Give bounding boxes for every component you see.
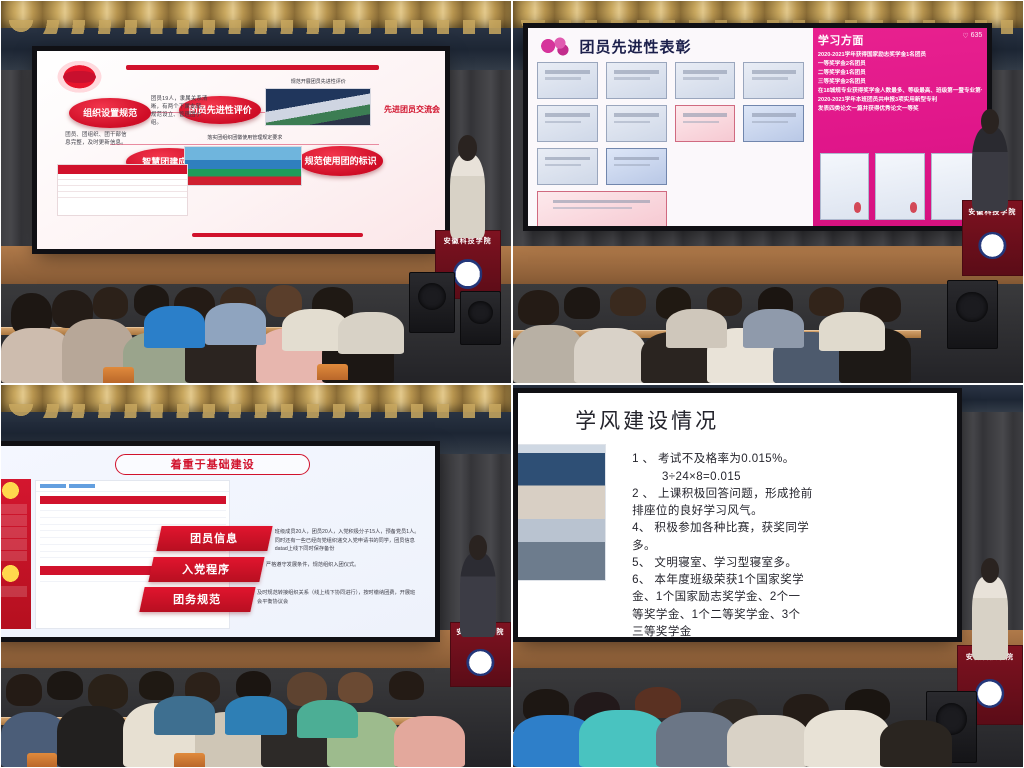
slide-line: 3÷24×8=0.015 bbox=[632, 469, 935, 486]
sidebar-item bbox=[0, 586, 27, 597]
app-logo-icon bbox=[0, 481, 25, 502]
study-aspect-panel: 学习方面 ♡ 635 2020-2021学年获得国家励志奖学金1名团员 一等奖学… bbox=[813, 28, 987, 227]
certificate-item bbox=[537, 62, 598, 100]
audience-area bbox=[513, 223, 1023, 383]
audience-area bbox=[1, 607, 511, 767]
projection-screen: 组织设置规范 团员先进性评价 智慧团建应用 规范使用团的标识 先进团员交流会 团… bbox=[37, 51, 445, 250]
patent-document bbox=[875, 153, 924, 221]
sidebar-item bbox=[0, 527, 27, 538]
like-indicator: ♡ 635 bbox=[962, 32, 982, 40]
slide-line: 4、 积极参加各种比赛，获奖同学 bbox=[632, 520, 935, 537]
slide-data-table bbox=[57, 164, 188, 216]
slide-accent-bar-top bbox=[126, 65, 379, 70]
chair bbox=[317, 364, 348, 380]
certificate-item bbox=[675, 62, 736, 100]
certificate-item bbox=[537, 148, 598, 186]
stage-curtain bbox=[513, 1, 1023, 28]
attendee-head bbox=[6, 674, 42, 706]
attendee-head bbox=[338, 672, 374, 702]
photo-collage: 组织设置规范 团员先进性评价 智慧团建应用 规范使用团的标识 先进团员交流会 团… bbox=[0, 0, 1024, 768]
sidebar-item bbox=[0, 515, 27, 526]
panel-top-right: 团员先进性表彰 bbox=[512, 0, 1024, 384]
certificate-item bbox=[606, 62, 667, 100]
attendee-body bbox=[880, 720, 951, 767]
side-label-exchange-meeting: 先进团员交流会 bbox=[379, 96, 444, 122]
audience-area bbox=[513, 637, 1023, 767]
app-logo-icon bbox=[0, 564, 25, 585]
attendee-body bbox=[727, 715, 809, 767]
attendee-body bbox=[225, 696, 286, 735]
slide-photo-meeting bbox=[265, 88, 371, 126]
patent-documents bbox=[820, 153, 980, 221]
slide-line: 多。 bbox=[632, 538, 935, 555]
study-line: 二等奖学金1名团员 bbox=[818, 69, 982, 78]
attendee-body bbox=[205, 303, 266, 345]
attendee-body bbox=[57, 706, 128, 767]
photo-caption-2: 落实团组织团徽使用管理规定要求 bbox=[179, 134, 310, 141]
attendee-head bbox=[139, 671, 175, 700]
oval-label-organization: 组织设置规范 bbox=[69, 98, 151, 128]
band-label: 团务规范 bbox=[173, 592, 221, 608]
certificate-item bbox=[743, 62, 804, 100]
study-line: 发表四类论文一篇并获得优秀论文一等奖 bbox=[818, 105, 982, 114]
league-emblem-icon bbox=[53, 61, 106, 97]
table-row bbox=[40, 504, 226, 511]
tab bbox=[40, 484, 66, 488]
slide-line: 三等奖学金 bbox=[632, 624, 935, 637]
table-row bbox=[40, 511, 226, 518]
photo-caption-1: 规范开展团员先进性评价 bbox=[261, 78, 375, 85]
study-line: 在18城规专业获得奖学金人数最多、等级最高、班级第一暨专业第一。 bbox=[818, 87, 982, 96]
certificate-item bbox=[606, 105, 667, 143]
tab bbox=[69, 484, 95, 488]
audience-area bbox=[1, 223, 511, 383]
study-line: 2020-2021学年获得国家励志奖学金1名团员 bbox=[818, 51, 982, 60]
connector-line bbox=[110, 144, 379, 145]
band-label: 入党程序 bbox=[182, 561, 230, 577]
classroom-photo bbox=[518, 444, 606, 581]
slide-title: 着重于基础建设 bbox=[115, 454, 310, 475]
panel-bottom-left: 着重于基础建设 bbox=[0, 384, 512, 768]
attendee-body bbox=[804, 710, 891, 767]
sidebar-item bbox=[0, 504, 27, 515]
table-row bbox=[40, 518, 226, 525]
attendee-head bbox=[610, 287, 646, 316]
attendee-head bbox=[389, 671, 425, 700]
band-label: 团员信息 bbox=[191, 531, 239, 547]
chair bbox=[174, 753, 205, 767]
certificate-item-wide bbox=[537, 191, 667, 226]
chair bbox=[27, 753, 58, 767]
attendee-head bbox=[564, 287, 600, 319]
attendee-body bbox=[666, 309, 727, 348]
study-panel-title: 学习方面 bbox=[818, 32, 982, 48]
slide-photo-ceremony bbox=[184, 146, 302, 186]
projection-screen: 学风建设情况 1 、 考试不及格率为0.015%。 3÷24×8=0.015 2… bbox=[518, 393, 957, 637]
attendee-head bbox=[518, 290, 559, 325]
slide-line: 等奖学金、1个二等奖学金、3个 bbox=[632, 607, 935, 624]
study-panel-lines: 2020-2021学年获得国家励志奖学金1名团员 一等奖学金2名团员 二等奖学金… bbox=[818, 51, 982, 114]
band-party-procedure: 入党程序 bbox=[148, 557, 264, 582]
slide-line: 排座位的良好学习风气。 bbox=[632, 503, 935, 520]
certificates-section: 团员先进性表彰 bbox=[528, 28, 813, 227]
patent-document bbox=[820, 153, 869, 221]
attendee-body bbox=[144, 306, 205, 348]
study-line: 一等奖学金2名团员 bbox=[818, 60, 982, 69]
attendee-head bbox=[47, 671, 83, 700]
certificate-item bbox=[743, 105, 804, 143]
decorative-flower-icon bbox=[537, 34, 574, 58]
stage-curtain bbox=[1, 1, 511, 28]
attendee-body bbox=[579, 710, 666, 767]
presenter-head bbox=[981, 109, 1000, 134]
attendee-body bbox=[394, 716, 465, 767]
presenter-head bbox=[469, 535, 488, 560]
band-note-3: 及时规范转接组织关系（线上线下协同进行），按时缴纳团费，开展班会平衡协议会 bbox=[257, 589, 417, 606]
slide-title: 学风建设情况 bbox=[575, 405, 719, 435]
slide-title: 团员先进性表彰 bbox=[580, 36, 692, 57]
certificate-item bbox=[675, 105, 736, 143]
oval-label-logo-usage: 规范使用团的标识 bbox=[298, 146, 384, 176]
band-member-info: 团员信息 bbox=[157, 526, 273, 551]
attendee-body bbox=[656, 712, 738, 767]
study-line: 2020-2021学年本班团员共申报3项实用新型专利 bbox=[818, 96, 982, 105]
sidebar-item bbox=[0, 539, 27, 550]
slide-line: 金、1个国家励志奖学金、2个一 bbox=[632, 589, 935, 606]
attendee-head bbox=[93, 287, 129, 319]
chair bbox=[103, 367, 134, 383]
sidebar-item bbox=[0, 551, 27, 562]
table-row bbox=[58, 192, 187, 198]
slide-line: 6、 本年度班级荣获1个国家奖学 bbox=[632, 572, 935, 589]
heart-icon: ♡ bbox=[962, 32, 968, 40]
attendee-body bbox=[743, 309, 804, 348]
stage-curtain bbox=[1, 385, 511, 412]
certificate-item bbox=[606, 148, 667, 186]
slide-body-text-2: 团员、团组织、团干部信息完整，及时更新信息。 bbox=[65, 132, 130, 148]
attendee-body bbox=[574, 328, 645, 383]
certificate-grid bbox=[537, 62, 805, 219]
attendee-head bbox=[236, 671, 272, 700]
slide-body-text-1: 团员19人，隶属关系清晰，有两个下属支部，规范设立、管理团小组。 bbox=[151, 96, 212, 127]
band-note-2: 严格遵守发展条件，规范组织入团仪式。 bbox=[266, 561, 417, 569]
certificate-item bbox=[537, 105, 598, 143]
attendee-head bbox=[809, 287, 845, 316]
like-count: 635 bbox=[971, 32, 983, 39]
projection-screen: 团员先进性表彰 bbox=[528, 28, 987, 227]
app-tabs bbox=[36, 481, 229, 491]
attendee-body bbox=[338, 312, 404, 354]
presenter-head bbox=[458, 135, 477, 160]
slide-line: 1 、 考试不及格率为0.015%。 bbox=[632, 451, 935, 468]
attendee-body bbox=[819, 312, 885, 351]
slide-line: 5、 文明寝室、学习型寝室多。 bbox=[632, 555, 935, 572]
table-header bbox=[40, 496, 226, 505]
panel-bottom-right: 学风建设情况 1 、 考试不及格率为0.015%。 3÷24×8=0.015 2… bbox=[512, 384, 1024, 768]
slide-body: 1 、 考试不及格率为0.015%。 3÷24×8=0.015 2 、 上课积极… bbox=[632, 451, 935, 637]
study-line: 三等奖学金2名团员 bbox=[818, 78, 982, 87]
presenter bbox=[972, 127, 1008, 211]
table-header bbox=[58, 165, 187, 174]
presenter-head bbox=[981, 558, 1000, 583]
attendee-body bbox=[154, 696, 215, 735]
attendee-body bbox=[297, 700, 358, 739]
band-note-1: 班级成员20人，团员20人，入党积极分子15人，预备党员1人。同时还有一些已经向… bbox=[275, 528, 421, 553]
panel-top-left: 组织设置规范 团员先进性评价 智慧团建应用 规范使用团的标识 先进团员交流会 团… bbox=[0, 0, 512, 384]
attendee-head bbox=[88, 674, 129, 709]
slide-line: 2 、 上课积极回答问题，形成抢前 bbox=[632, 486, 935, 503]
